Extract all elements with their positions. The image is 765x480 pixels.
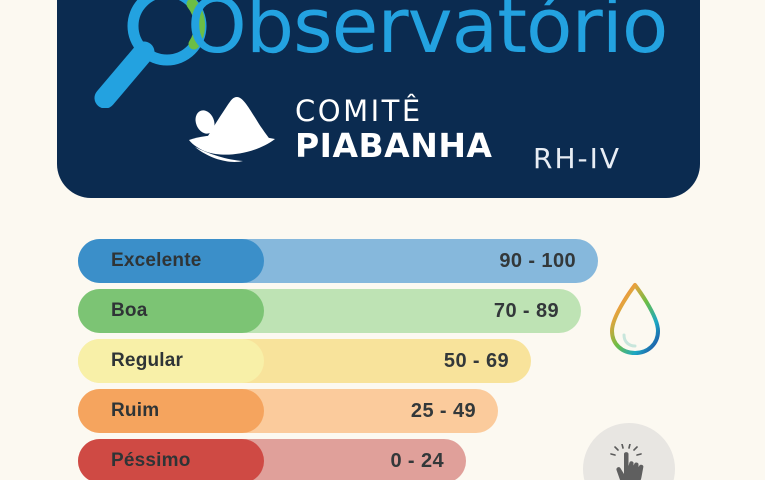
legend-pill: Regular: [78, 339, 264, 383]
water-droplet-icon: [604, 281, 666, 357]
click-hand-cursor-icon: [609, 444, 649, 480]
header-inner: Observatório COMITÊ PIABANHA RH-IV: [57, 0, 700, 198]
committee-line-2: PIABANHA: [295, 129, 492, 162]
legend-label: Ruim: [111, 400, 159, 422]
legend-range: 50 - 69: [444, 350, 509, 373]
legend-range: 90 - 100: [499, 250, 576, 273]
page-title: Observatório: [187, 0, 667, 64]
legend-pill: Boa: [78, 289, 264, 333]
committee-line-1: COMITÊ: [295, 97, 492, 126]
legend-range: 25 - 49: [411, 400, 476, 423]
mountain-leaf-icon: [185, 92, 281, 166]
legend-label: Boa: [111, 300, 148, 322]
legend-row: 90 - 100Excelente: [78, 239, 638, 283]
legend-label: Péssimo: [111, 450, 191, 472]
header-panel: Observatório COMITÊ PIABANHA RH-IV: [57, 0, 700, 198]
legend-row: 50 - 69Regular: [78, 339, 638, 383]
legend-label: Excelente: [111, 250, 202, 272]
water-quality-legend: 90 - 100Excelente70 - 89Boa50 - 69Regula…: [78, 239, 638, 480]
legend-row: 25 - 49Ruim: [78, 389, 638, 433]
committee-lockup: COMITÊ PIABANHA: [185, 92, 492, 166]
legend-row: 0 - 24Péssimo: [78, 439, 638, 480]
legend-pill: Excelente: [78, 239, 264, 283]
legend-range: 70 - 89: [494, 300, 559, 323]
legend-pill: Ruim: [78, 389, 264, 433]
region-code: RH-IV: [533, 142, 621, 175]
legend-row: 70 - 89Boa: [78, 289, 638, 333]
legend-pill: Péssimo: [78, 439, 264, 480]
legend-label: Regular: [111, 350, 183, 372]
legend-range: 0 - 24: [390, 450, 444, 473]
committee-names: COMITÊ PIABANHA: [295, 97, 492, 162]
